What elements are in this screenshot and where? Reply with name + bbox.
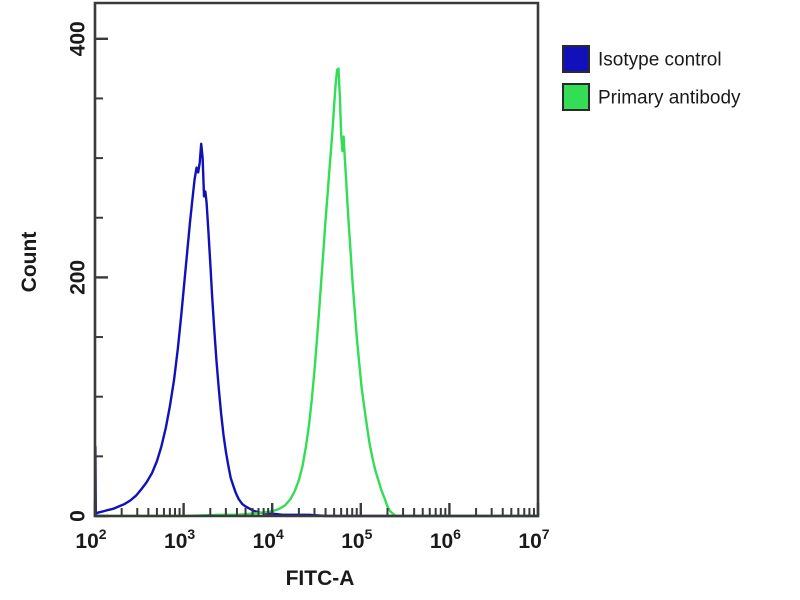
y-axis-tick-labels: 0200400: [67, 21, 90, 522]
legend-label: Isotype control: [598, 50, 722, 71]
x-axis-ticks: [95, 503, 538, 516]
x-tick-label: 105: [341, 526, 372, 553]
chart-legend: Isotype controlPrimary antibody: [563, 46, 741, 110]
y-tick-label: 200: [67, 260, 90, 295]
data-traces: [95, 69, 538, 516]
x-tick-label: 103: [164, 526, 195, 553]
legend-swatch: [563, 84, 589, 110]
y-axis-ticks: [95, 39, 108, 516]
y-tick-label: 0: [67, 510, 90, 522]
x-tick-label: 102: [75, 526, 106, 553]
x-axis-title: FITC-A: [286, 567, 355, 590]
y-axis-title: Count: [18, 232, 41, 293]
flow-cytometry-histogram: 102103104105106107 0200400 FITC-A Count …: [0, 0, 800, 600]
legend-label: Primary antibody: [598, 88, 741, 109]
x-axis-tick-labels: 102103104105106107: [75, 526, 549, 553]
x-tick-label: 106: [430, 526, 461, 553]
plot-frame: [95, 3, 538, 516]
y-tick-label: 400: [67, 21, 90, 56]
x-tick-label: 107: [518, 526, 549, 553]
chart-canvas: 102103104105106107 0200400 FITC-A Count …: [0, 0, 800, 600]
legend-swatch: [563, 46, 589, 72]
x-tick-label: 104: [253, 526, 284, 553]
